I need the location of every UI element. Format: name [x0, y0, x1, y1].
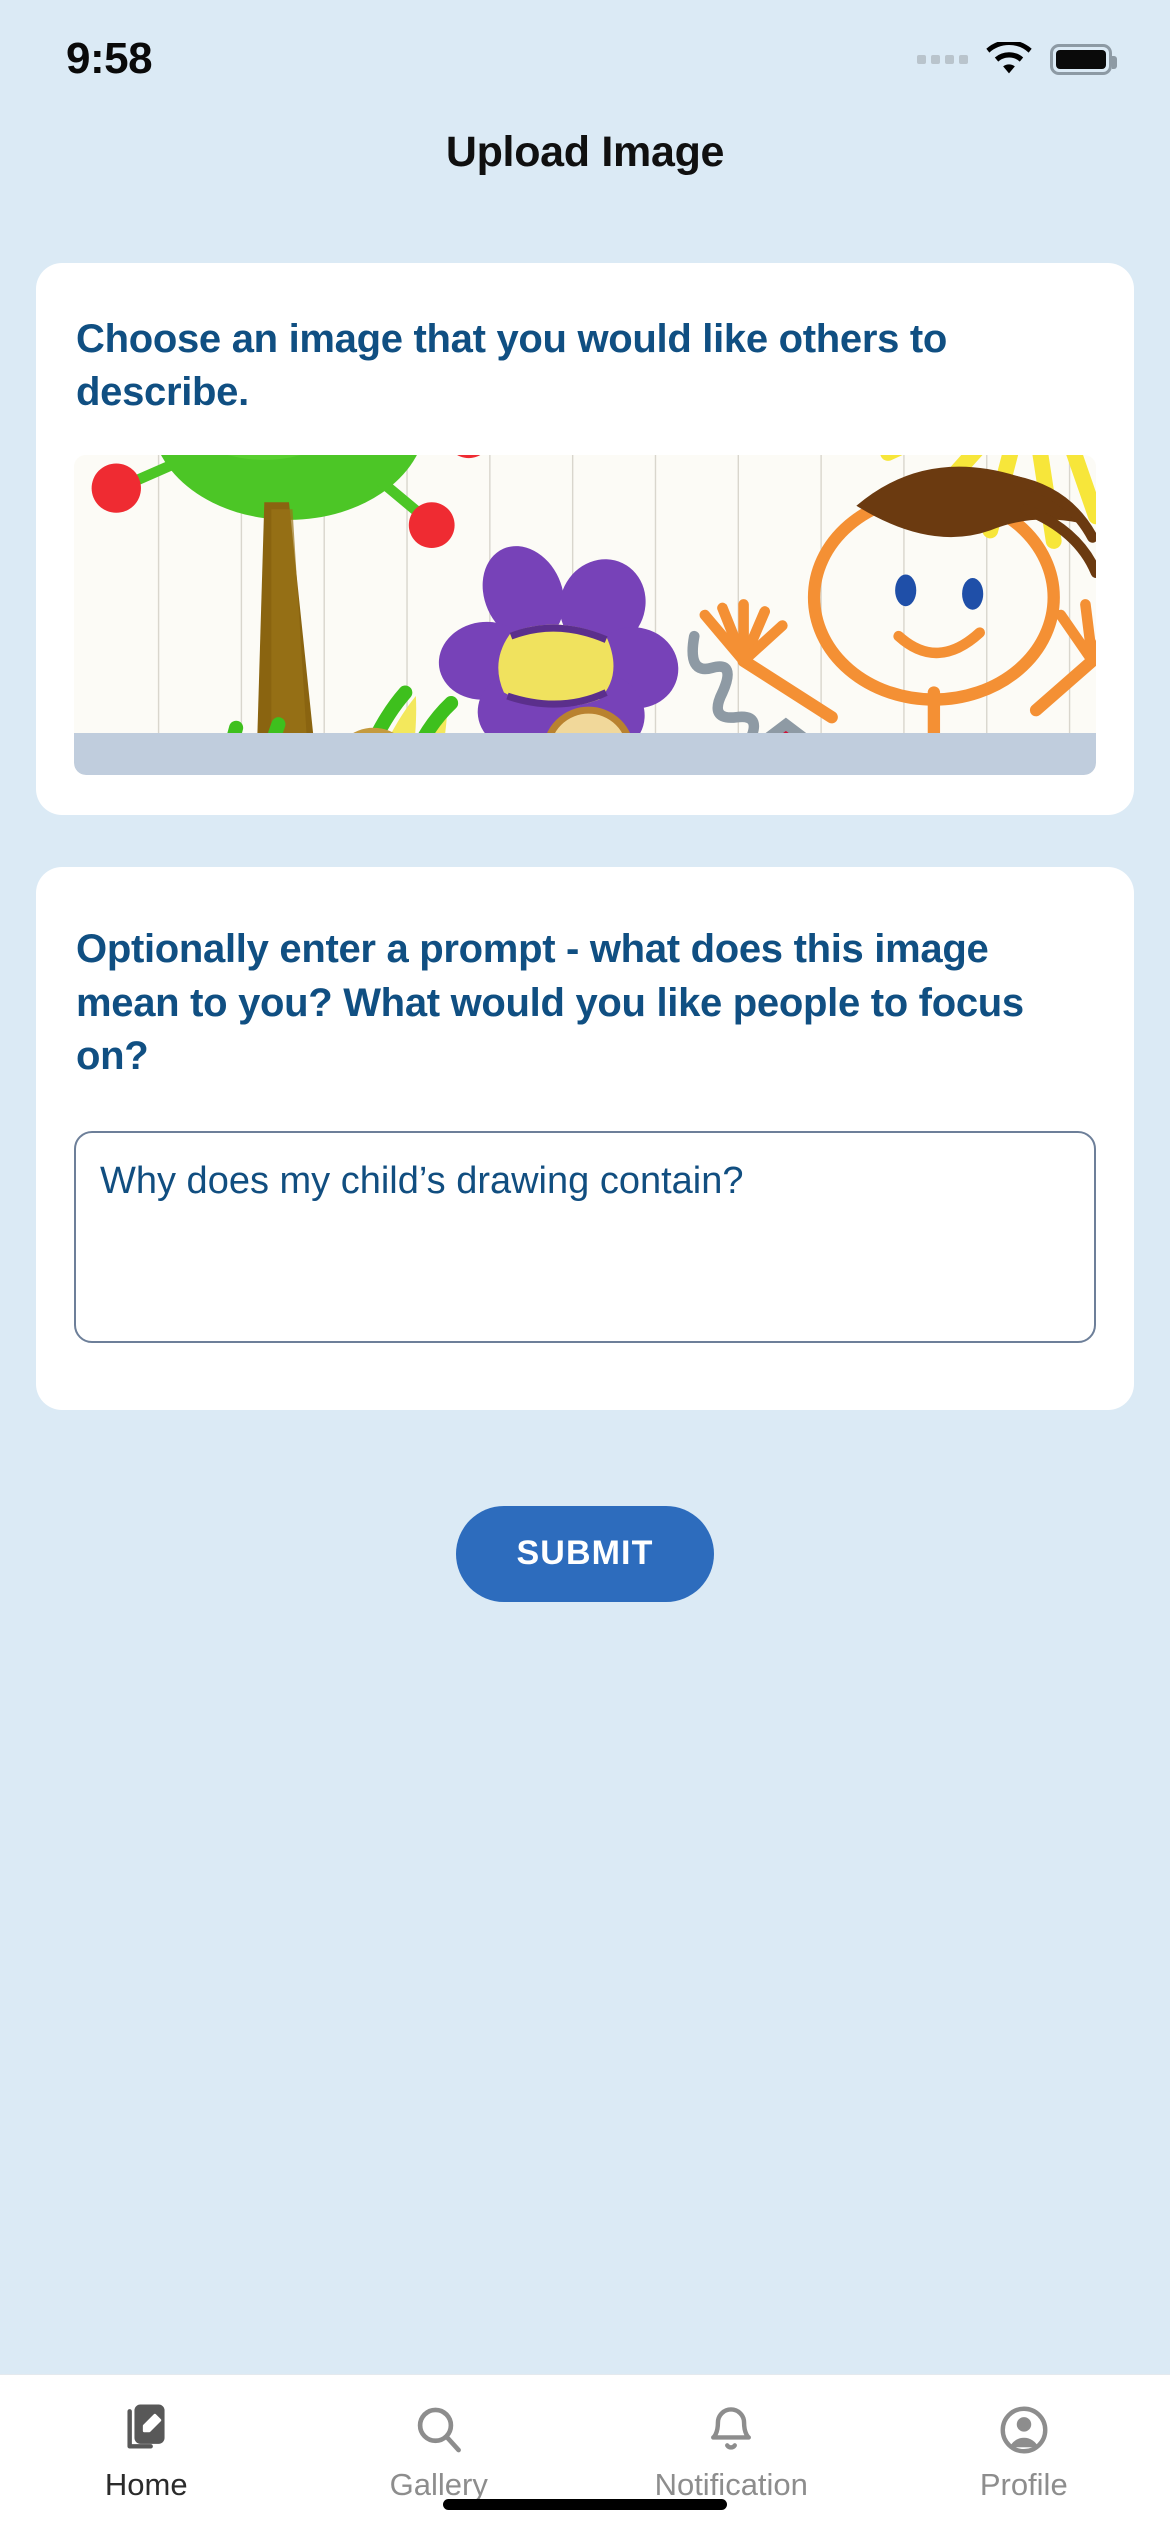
child-crayon-drawing	[74, 455, 1096, 775]
nav-tab-profile[interactable]: Profile	[878, 2401, 1170, 2503]
prompt-textarea[interactable]	[74, 1131, 1096, 1343]
submit-row: SUBMIT	[36, 1506, 1134, 1602]
nav-tab-notification-label: Notification	[655, 2467, 808, 2503]
status-bar-indicators	[917, 42, 1112, 76]
nav-tab-gallery[interactable]: Gallery	[293, 2401, 586, 2503]
bell-icon	[703, 2401, 759, 2459]
status-bar-time: 9:58	[66, 34, 152, 84]
home-indicator[interactable]	[443, 2499, 727, 2510]
nav-tab-home[interactable]: Home	[0, 2401, 293, 2503]
image-card-heading: Choose an image that you would like othe…	[74, 313, 1096, 419]
app-screen: 9:58 Upload Image Choose an image that y…	[0, 0, 1170, 2532]
nav-tab-profile-label: Profile	[980, 2467, 1068, 2503]
main-content: Choose an image that you would like othe…	[0, 177, 1170, 2374]
page-title: Upload Image	[0, 100, 1170, 177]
image-preview-footer-bar	[74, 733, 1096, 775]
status-bar: 9:58	[0, 0, 1170, 100]
wifi-icon	[986, 42, 1032, 76]
cellular-dots-icon	[917, 55, 968, 64]
nav-tab-gallery-label: Gallery	[390, 2467, 488, 2503]
image-upload-card: Choose an image that you would like othe…	[36, 263, 1134, 815]
submit-button[interactable]: SUBMIT	[456, 1506, 714, 1602]
battery-full-icon	[1050, 44, 1112, 75]
search-icon	[411, 2401, 467, 2459]
home-edit-icon	[118, 2401, 174, 2459]
prompt-card-heading: Optionally enter a prompt - what does th…	[74, 923, 1096, 1083]
nav-tab-home-label: Home	[105, 2467, 188, 2503]
nav-tab-notification[interactable]: Notification	[585, 2401, 878, 2503]
prompt-card: Optionally enter a prompt - what does th…	[36, 867, 1134, 1410]
account-circle-icon	[996, 2401, 1052, 2459]
image-preview[interactable]	[74, 455, 1096, 775]
